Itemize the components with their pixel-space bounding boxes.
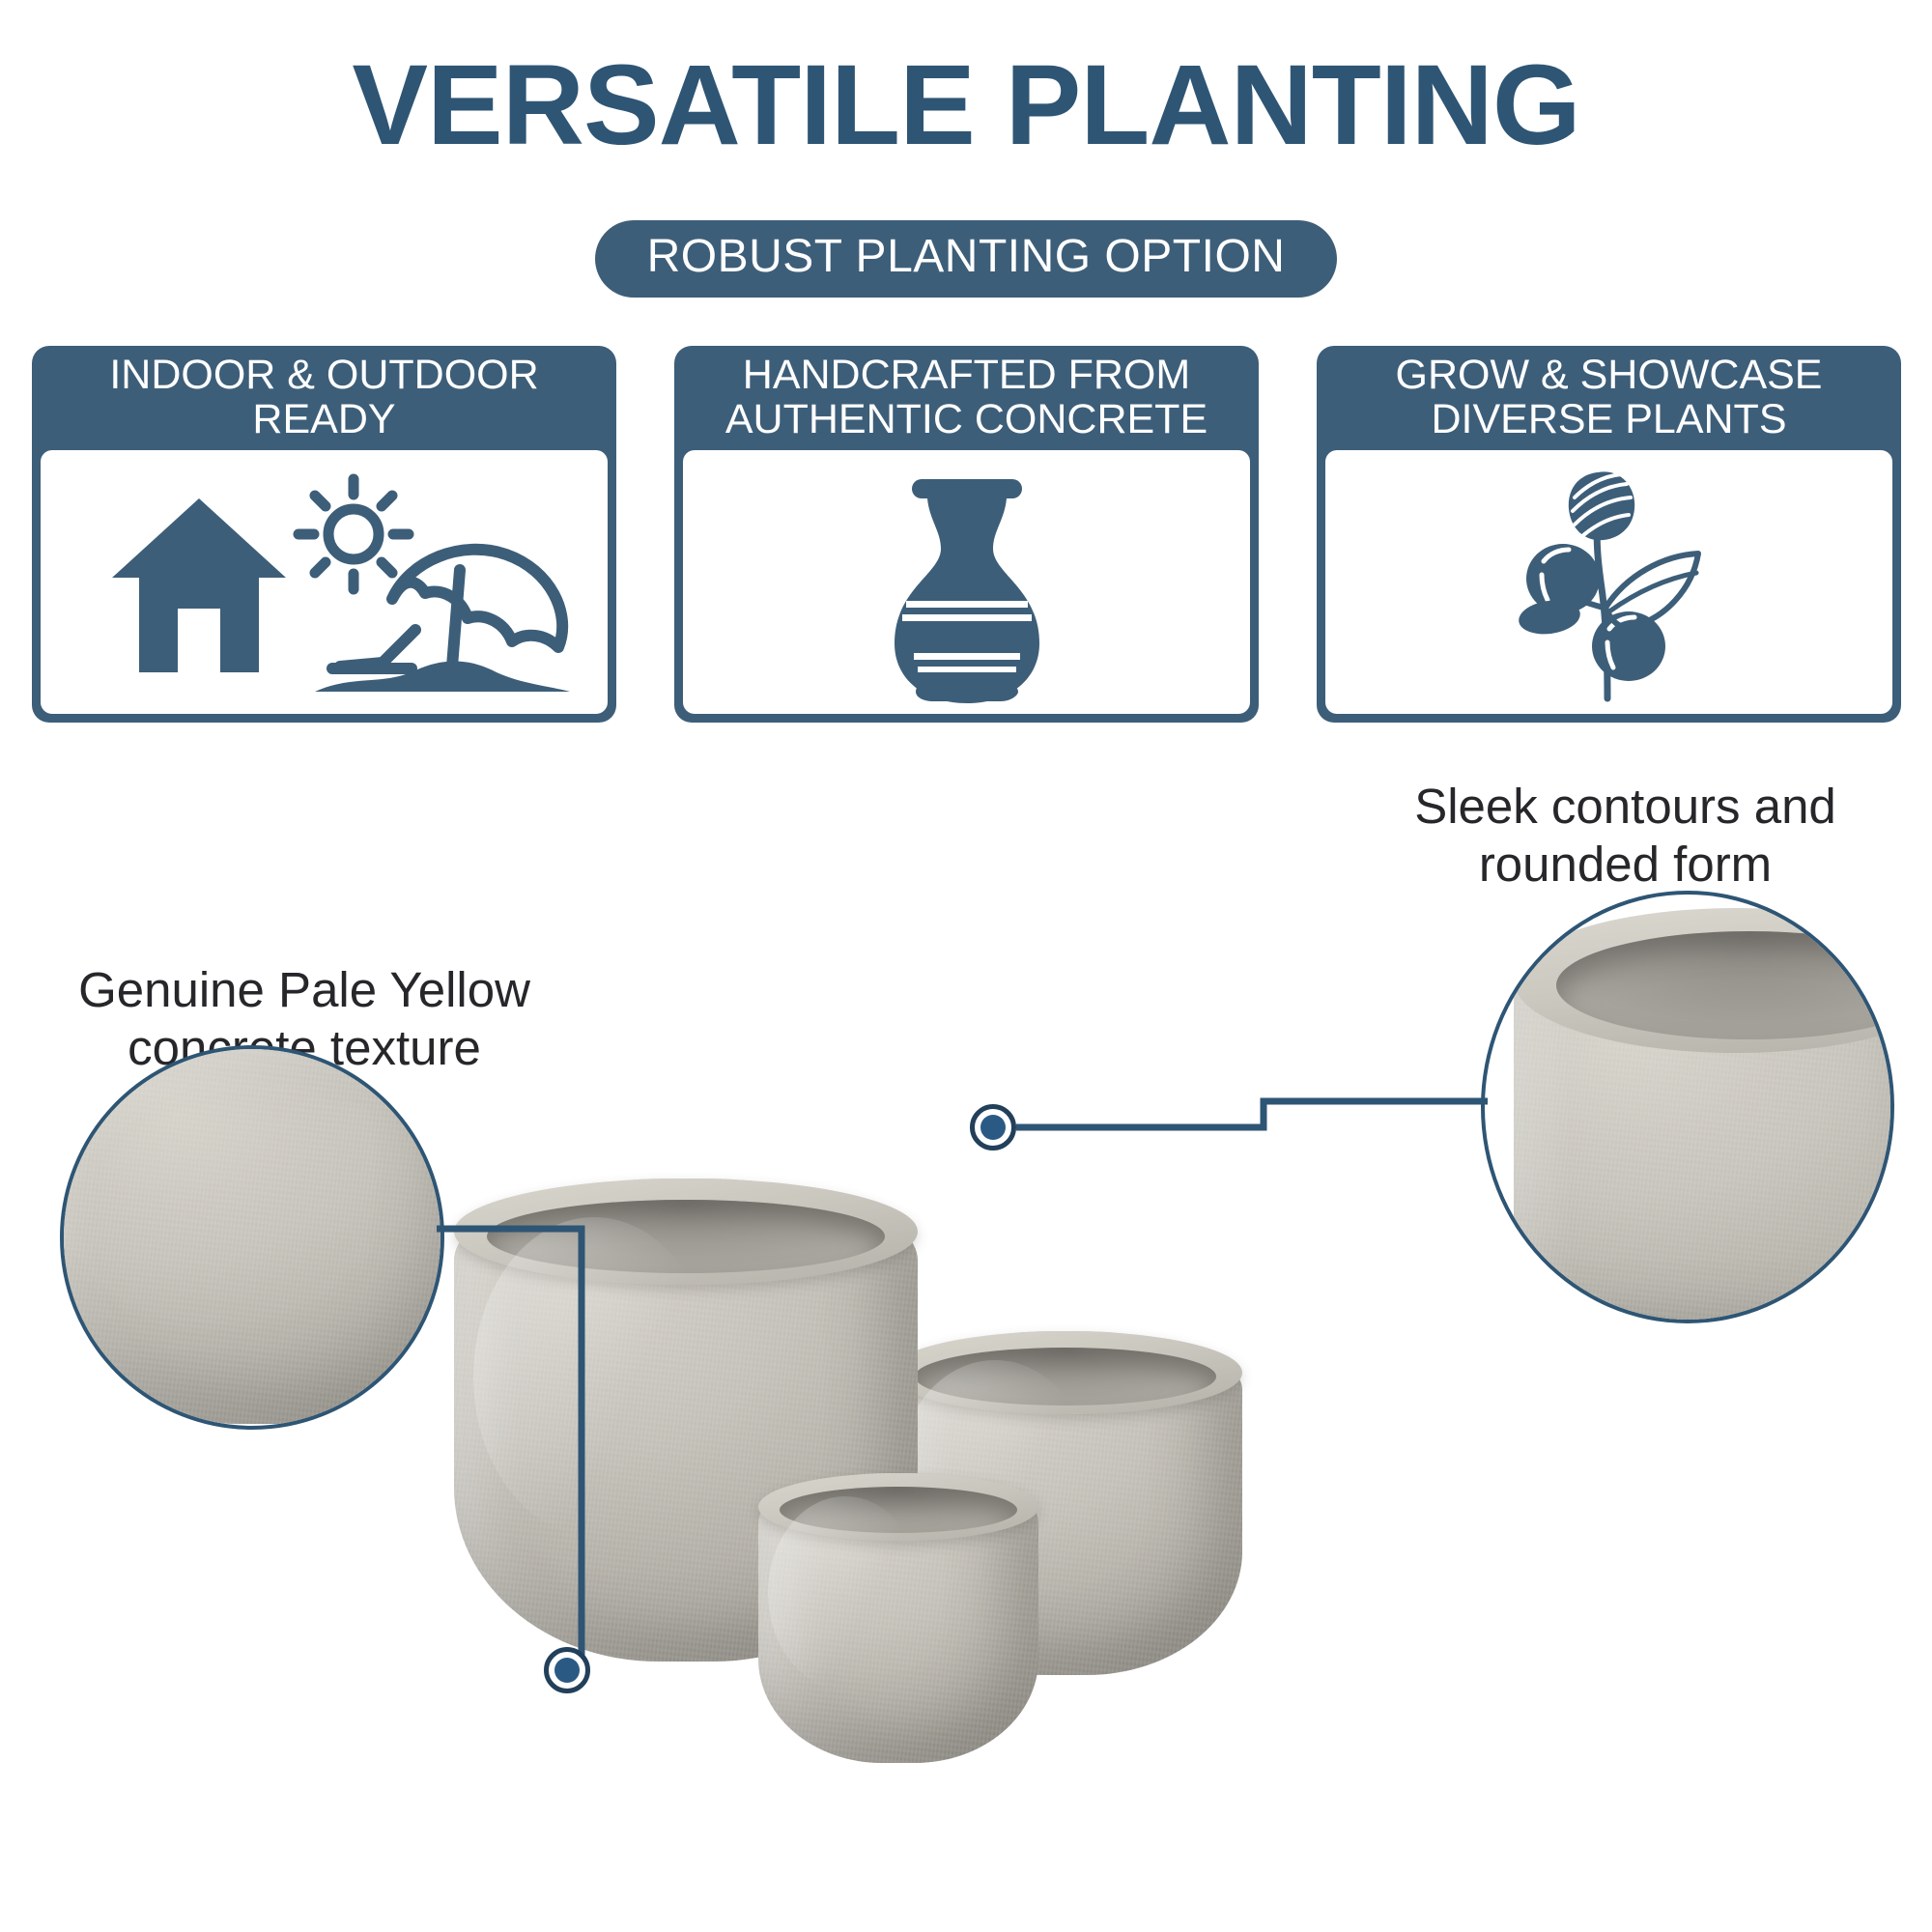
card2-title-line1: HANDCRAFTED FROM	[743, 352, 1190, 398]
marker-dot-rim[interactable]	[970, 1104, 1016, 1151]
vase-icon	[846, 462, 1088, 703]
zoom-detail-texture	[60, 1045, 444, 1430]
card3-title-line1: GROW & SHOWCASE	[1396, 352, 1823, 398]
callout-label-contour: Sleek contours and rounded form	[1348, 778, 1903, 894]
feature-card-title: INDOOR & OUTDOOR READY	[32, 346, 616, 450]
berry-branch-icon	[1484, 461, 1735, 704]
feature-card-title: HANDCRAFTED FROM AUTHENTIC CONCRETE	[674, 346, 1259, 450]
card2-title-line2: AUTHENTIC CONCRETE	[725, 396, 1207, 442]
feature-card-icon-area	[41, 450, 608, 714]
page-title: VERSATILE PLANTING	[0, 48, 1932, 162]
indoor-outdoor-icon-group	[73, 462, 576, 703]
feature-card-diverse-plants[interactable]: GROW & SHOWCASE DIVERSE PLANTS	[1317, 346, 1901, 723]
card3-title-line2: DIVERSE PLANTS	[1432, 396, 1787, 442]
feature-card-handcrafted-concrete[interactable]: HANDCRAFTED FROM AUTHENTIC CONCRETE	[674, 346, 1259, 723]
infographic-canvas: VERSATILE PLANTING ROBUST PLANTING OPTIO…	[0, 0, 1932, 1932]
feature-card-indoor-outdoor[interactable]: INDOOR & OUTDOOR READY	[32, 346, 616, 723]
badge-container: ROBUST PLANTING OPTION	[0, 220, 1932, 298]
status-badge: ROBUST PLANTING OPTION	[595, 220, 1338, 298]
card1-title-line1: INDOOR & OUTDOOR	[109, 352, 538, 398]
feature-card-icon-area	[1325, 450, 1892, 714]
planter-mouth	[915, 1348, 1216, 1406]
marker-core	[554, 1658, 580, 1683]
lower-berry	[1592, 611, 1665, 681]
zoom-detail-rim	[1481, 891, 1894, 1323]
product-photo	[415, 1082, 1459, 1932]
callout-left-line1: Genuine Pale Yellow	[78, 962, 530, 1017]
magnified-concrete-base	[60, 1045, 444, 1424]
feature-card-row: INDOOR & OUTDOOR READY	[32, 346, 1901, 723]
feature-card-title: GROW & SHOWCASE DIVERSE PLANTS	[1317, 346, 1901, 450]
card1-title-line2: READY	[252, 396, 395, 442]
striped-berry	[1568, 471, 1634, 540]
callout-right-line1: Sleek contours and	[1414, 779, 1836, 834]
callout-right-line2: rounded form	[1479, 837, 1772, 892]
marker-core	[980, 1115, 1006, 1140]
planter-mouth	[780, 1487, 1017, 1533]
house-icon	[112, 498, 286, 672]
feature-card-icon-area	[683, 450, 1250, 714]
small-planter	[758, 1473, 1038, 1763]
planter-mouth	[487, 1200, 885, 1273]
marker-dot-texture[interactable]	[544, 1647, 590, 1693]
sun-icon	[298, 479, 409, 589]
